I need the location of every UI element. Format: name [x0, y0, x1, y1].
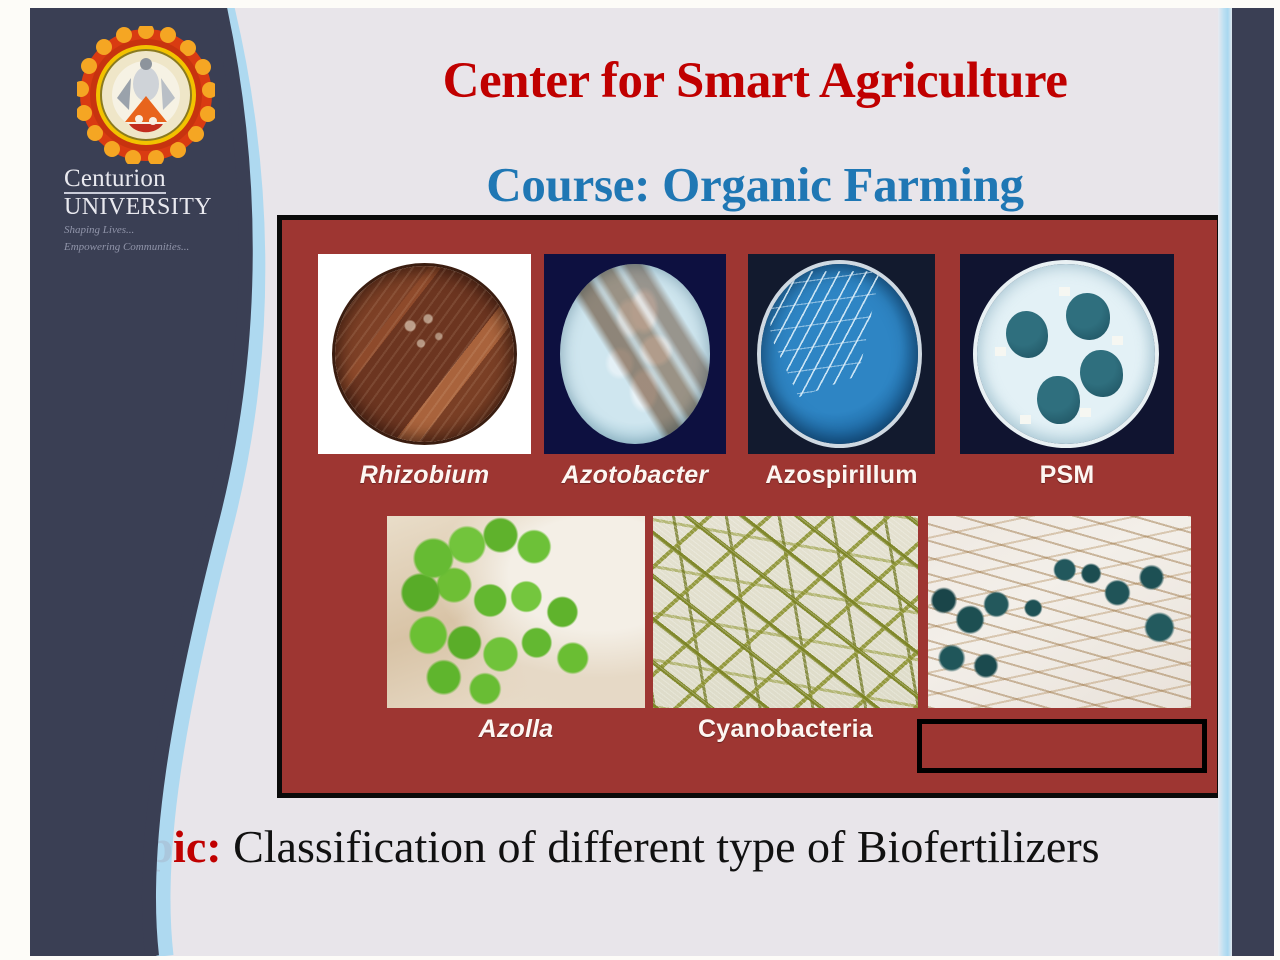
tagline-line-2: Empowering Communities... — [64, 241, 233, 255]
gallery-item-mycorrhiza — [928, 516, 1191, 708]
rhizobium-agar-plate-photo — [318, 254, 531, 454]
gallery-item-azotobacter: Azotobacter — [544, 254, 726, 490]
azotobacter-agar-plate-photo — [544, 254, 726, 454]
topic-text: Classification of different type of Biof… — [222, 821, 1100, 872]
gallery-item-azolla: Azolla — [387, 516, 645, 744]
page-title: Center for Smart Agriculture — [280, 52, 1230, 110]
gallery-item-rhizobium: Rhizobium — [318, 254, 531, 490]
cyanobacteria-filaments-micrograph — [653, 516, 918, 708]
caption-cyanobacteria: Cyanobacteria — [653, 715, 918, 744]
right-accent-band — [1218, 8, 1232, 956]
caption-rhizobium: Rhizobium — [318, 461, 531, 490]
psm-agar-plate-photo — [960, 254, 1174, 454]
caption-azolla: Azolla — [387, 715, 645, 744]
mycorrhiza-spores-micrograph — [928, 516, 1191, 708]
biofertilizer-image-panel: Rhizobium Azotobacter Azospirillum — [277, 215, 1222, 798]
caption-psm: PSM — [960, 461, 1174, 490]
caption-azospirillum: Azospirillum — [748, 461, 935, 490]
slide-content-area: Centurion UNIVERSITY Shaping Lives... Em… — [30, 8, 1274, 956]
course-subtitle: Course: Organic Farming — [280, 156, 1230, 213]
redacted-caption-box — [917, 719, 1207, 773]
slide-canvas: Centurion UNIVERSITY Shaping Lives... Em… — [0, 0, 1280, 960]
gallery-item-azospirillum: Azospirillum — [748, 254, 935, 490]
right-navy-band — [1232, 8, 1274, 956]
gallery-item-cyanobacteria: Cyanobacteria — [653, 516, 918, 744]
wordmark-line-1: Centurion — [64, 166, 166, 194]
azolla-fronds-photo — [387, 516, 645, 708]
wordmark-line-2: UNIVERSITY — [64, 195, 233, 220]
tagline-line-1: Shaping Lives... — [64, 224, 233, 238]
university-logo: Centurion UNIVERSITY Shaping Lives... Em… — [58, 26, 233, 255]
university-wordmark: Centurion UNIVERSITY Shaping Lives... Em… — [58, 166, 233, 255]
gallery-item-psm: PSM — [960, 254, 1174, 490]
azospirillum-agar-plate-photo — [748, 254, 935, 454]
caption-azotobacter: Azotobacter — [544, 461, 726, 490]
university-crest-icon — [77, 26, 215, 164]
